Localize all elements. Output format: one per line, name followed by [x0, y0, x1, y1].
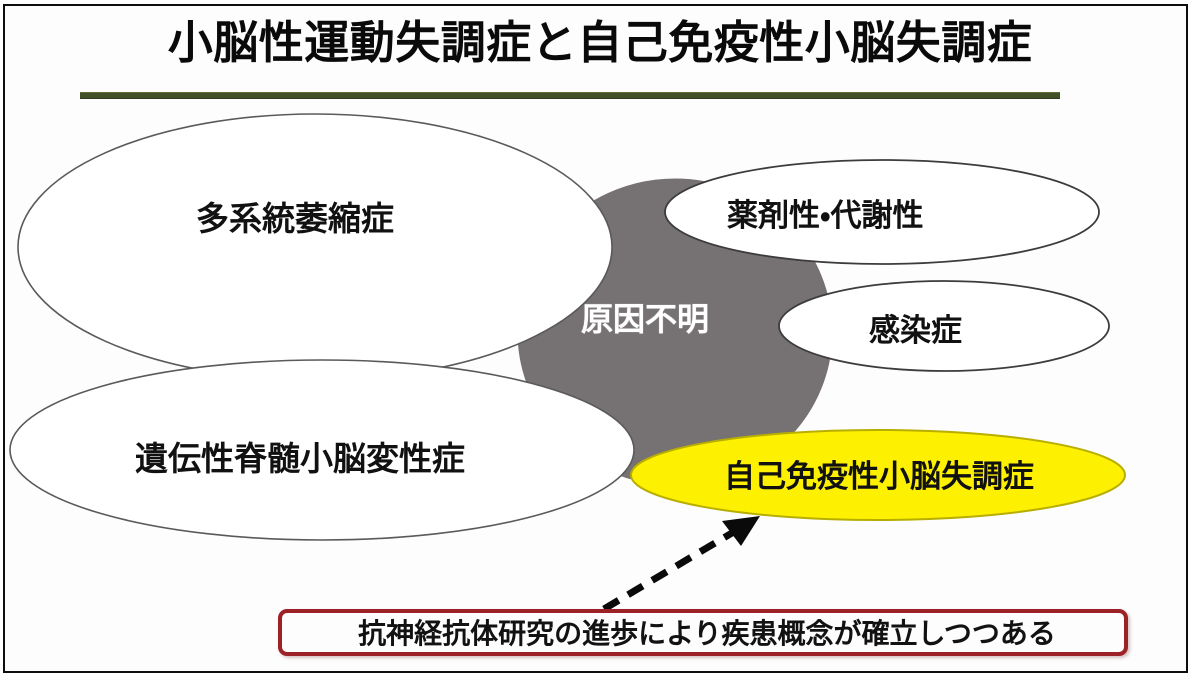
- venn-diagram: [0, 0, 1200, 681]
- ellipse-multiple-system-atrophy[interactable]: [18, 114, 612, 380]
- ellipse-autoimmune-cerebellar-ataxia[interactable]: [631, 430, 1125, 520]
- ellipse-drug-induced-metabolic[interactable]: [665, 160, 1099, 264]
- dashed-arrow-icon: [604, 516, 760, 609]
- callout-box[interactable]: 抗神経抗体研究の進歩により疾患概念が確立しつつある: [278, 609, 1128, 656]
- ellipse-infectious-disease[interactable]: [779, 281, 1109, 371]
- slide-canvas: 小脳性運動失調症と自己免疫性小脳失調症 多系統萎縮症 遺伝性脊髄小脳変性症 薬剤…: [0, 0, 1200, 681]
- ellipse-hereditary-spinocerebellar-degeneration[interactable]: [10, 360, 634, 540]
- callout-text: 抗神経抗体研究の進歩により疾患概念が確立しつつある: [282, 613, 1132, 660]
